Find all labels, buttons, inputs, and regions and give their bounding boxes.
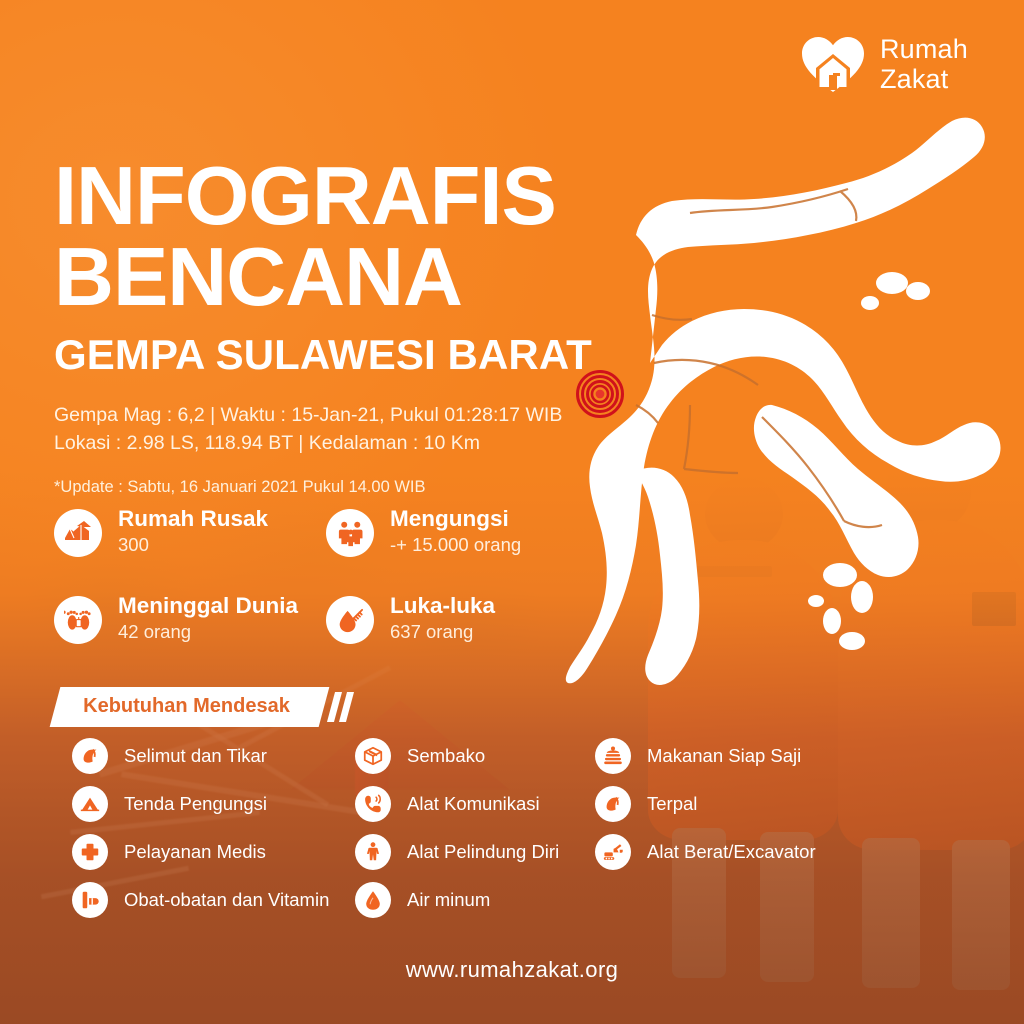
need-item-tarpaulin: Terpal (595, 783, 925, 825)
need-label: Sembako (407, 745, 485, 767)
box-package-icon (355, 738, 391, 774)
feet-toetag-icon (54, 596, 102, 644)
need-label: Alat Komunikasi (407, 793, 540, 815)
stat-mengungsi: Mengungsi -+ 15.000 orang (326, 506, 521, 557)
title-line-1: INFOGRAFIS (54, 156, 592, 237)
blanket-icon (72, 738, 108, 774)
medical-cross-icon (72, 834, 108, 870)
need-item-medicine: Obat-obatan dan Vitamin (72, 879, 362, 921)
tarpaulin-icon (595, 786, 631, 822)
stat-rumah-rusak: Rumah Rusak 300 (54, 506, 326, 557)
logo-line-1: Rumah (880, 34, 968, 64)
water-drop-icon (355, 882, 391, 918)
telephone-icon (355, 786, 391, 822)
needs-column-2: Sembako Alat Komunikasi (355, 735, 605, 927)
heart-house-icon (800, 34, 866, 94)
stat-value: -+ 15.000 orang (390, 534, 521, 556)
title-line-2: BENCANA (54, 237, 592, 318)
need-item-tent: Tenda Pengungsi (72, 783, 362, 825)
need-label: Pelayanan Medis (124, 841, 266, 863)
stat-row: Rumah Rusak 300 (54, 506, 574, 557)
rumah-zakat-logo: Rumah Zakat (800, 34, 968, 94)
footer-url[interactable]: www.rumahzakat.org (0, 957, 1024, 983)
stat-row: Meninggal Dunia 42 orang (54, 593, 574, 644)
need-label: Terpal (647, 793, 697, 815)
need-item-communication: Alat Komunikasi (355, 783, 605, 825)
stat-label: Rumah Rusak (118, 506, 268, 531)
stat-luka-luka: Luka-luka 637 orang (326, 593, 495, 644)
blood-drop-syringe-icon (326, 596, 374, 644)
need-item-excavator: Alat Berat/Excavator (595, 831, 925, 873)
need-item-groceries: Sembako (355, 735, 605, 777)
subtitle: GEMPA SULAWESI BARAT (54, 331, 592, 379)
need-label: Alat Berat/Excavator (647, 841, 816, 863)
stat-label: Mengungsi (390, 506, 521, 531)
logo-line-2: Zakat (880, 64, 968, 94)
need-label: Air minum (407, 889, 490, 911)
ready-meal-icon (595, 738, 631, 774)
family-refugee-icon (326, 509, 374, 557)
need-label: Tenda Pengungsi (124, 793, 267, 815)
statistics-section: Rumah Rusak 300 (54, 506, 574, 644)
logo-wordmark: Rumah Zakat (880, 34, 968, 94)
medicine-bottle-icon (72, 882, 108, 918)
infographic-canvas: Rumah Zakat INFOGRAFIS BENCANA GEMPA SUL… (0, 0, 1024, 1024)
quake-meta: Gempa Mag : 6,2 | Waktu : 15-Jan-21, Puk… (54, 401, 592, 458)
needs-column-1: Selimut dan Tikar Tenda Pengungsi P (72, 735, 362, 927)
headline-block: INFOGRAFIS BENCANA GEMPA SULAWESI BARAT … (54, 156, 592, 497)
stat-value: 42 orang (118, 621, 298, 643)
stat-value: 300 (118, 534, 268, 556)
stat-meninggal-dunia: Meninggal Dunia 42 orang (54, 593, 326, 644)
excavator-icon (595, 834, 631, 870)
need-label: Makanan Siap Saji (647, 745, 801, 767)
quake-meta-line-1: Gempa Mag : 6,2 | Waktu : 15-Jan-21, Puk… (54, 401, 592, 429)
quake-meta-line-2: Lokasi : 2.98 LS, 118.94 BT | Kedalaman … (54, 429, 592, 457)
need-item-blanket: Selimut dan Tikar (72, 735, 362, 777)
need-label: Obat-obatan dan Vitamin (124, 889, 329, 911)
tent-icon (72, 786, 108, 822)
urgent-needs-title: Kebutuhan Mendesak (83, 695, 290, 718)
need-item-ready-meal: Makanan Siap Saji (595, 735, 925, 777)
stat-label: Luka-luka (390, 593, 495, 618)
update-note: *Update : Sabtu, 16 Januari 2021 Pukul 1… (54, 478, 592, 497)
stat-label: Meninggal Dunia (118, 593, 298, 618)
need-item-ppe: Alat Pelindung Diri (355, 831, 605, 873)
urgent-needs-plate: Kebutuhan Mendesak (50, 687, 329, 727)
coverall-ppe-icon (355, 834, 391, 870)
urgent-needs-banner: Kebutuhan Mendesak (55, 687, 350, 727)
stat-value: 637 orang (390, 621, 495, 643)
need-label: Alat Pelindung Diri (407, 841, 559, 863)
damaged-house-icon (54, 509, 102, 557)
need-item-drinking-water: Air minum (355, 879, 605, 921)
need-item-medical: Pelayanan Medis (72, 831, 362, 873)
need-label: Selimut dan Tikar (124, 745, 267, 767)
needs-column-3: Makanan Siap Saji Terpal (595, 735, 925, 879)
